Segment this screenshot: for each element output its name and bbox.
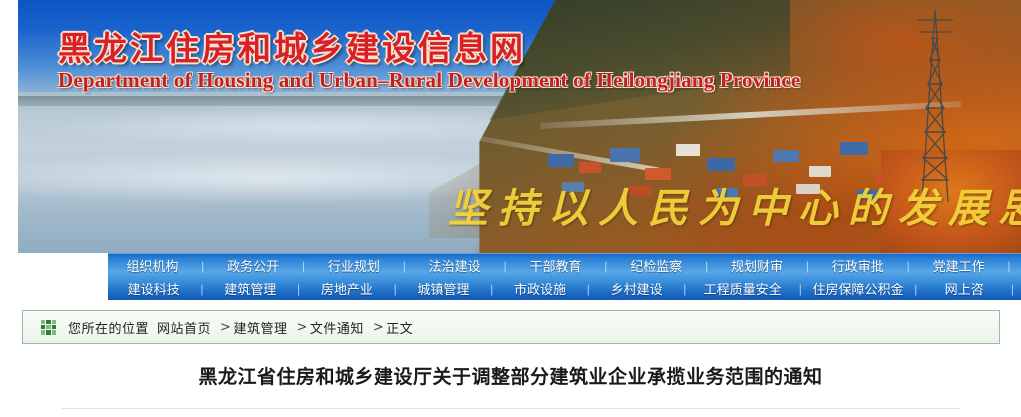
site-banner: 黑龙江住房和城乡建设信息网 Department of Housing and …	[18, 0, 1021, 253]
nav-separator: |	[580, 282, 597, 296]
nav-separator: |	[792, 282, 809, 296]
nav-item-engineering-quality-safety[interactable]: 工程质量安全	[693, 279, 791, 298]
nav-item-party-building[interactable]: 党建工作	[920, 256, 997, 275]
breadcrumb-item-building-management[interactable]: 建筑管理	[233, 318, 287, 337]
content-divider	[62, 408, 960, 409]
nav-item-organization[interactable]: 组织机构	[114, 256, 191, 275]
breadcrumb-separator: >	[294, 320, 309, 335]
breadcrumb-item-document-notice[interactable]: 文件通知	[310, 318, 364, 337]
nav-separator: |	[896, 259, 920, 273]
nav-item-rule-of-law[interactable]: 法治建设	[416, 256, 493, 275]
nav-separator: |	[695, 259, 719, 273]
nav-item-real-estate[interactable]: 房地产业	[307, 279, 386, 298]
breadcrumb-separator: >	[218, 320, 233, 335]
nav-item-construction-technology[interactable]: 建设科技	[114, 279, 193, 298]
banner-slogan-watermark: 坚持以人民为中心的发展思想	[448, 176, 1021, 234]
breadcrumb-separator: >	[371, 320, 386, 335]
nav-item-administrative-approval[interactable]: 行政审批	[819, 256, 896, 275]
breadcrumb-item-home[interactable]: 网站首页	[157, 318, 211, 337]
nav-item-rural-construction[interactable]: 乡村建设	[597, 279, 676, 298]
nav-item-discipline-inspection[interactable]: 纪检监察	[618, 256, 695, 275]
page-title: 黑龙江省住房和城乡建设厅关于调整部分建筑业企业承揽业务范围的通知	[0, 362, 1021, 389]
nav-item-municipal-facilities[interactable]: 市政设施	[500, 279, 579, 298]
breadcrumb-item-current: 正文	[386, 318, 413, 337]
nav-separator: |	[493, 259, 517, 273]
transmission-tower-icon	[913, 8, 957, 204]
main-navigation: 组织机构 | 政务公开 | 行业规划 | 法治建设 | 干部教育 | 纪检监察 …	[108, 253, 1021, 300]
nav-item-building-management[interactable]: 建筑管理	[211, 279, 290, 298]
nav-separator: |	[290, 282, 307, 296]
page-root: 黑龙江住房和城乡建设信息网 Department of Housing and …	[0, 0, 1021, 417]
nav-separator: |	[291, 259, 315, 273]
nav-separator: |	[193, 282, 210, 296]
nav-item-housing-provident-fund[interactable]: 住房保障公积金	[809, 279, 907, 298]
nav-item-planning-audit[interactable]: 规划财审	[719, 256, 796, 275]
grid-icon	[41, 320, 56, 335]
nav-item-industry-planning[interactable]: 行业规划	[316, 256, 393, 275]
nav-item-online-consultation[interactable]: 网上咨	[924, 279, 1003, 298]
nav-separator: |	[997, 259, 1021, 273]
nav-separator: |	[907, 282, 924, 296]
site-title-cn: 黑龙江住房和城乡建设信息网	[58, 22, 526, 70]
nav-separator: |	[392, 259, 416, 273]
site-title-en: Department of Housing and Urban–Rural De…	[58, 68, 800, 93]
nav-separator: |	[594, 259, 618, 273]
nav-separator: |	[483, 282, 500, 296]
nav-item-cadre-education[interactable]: 干部教育	[517, 256, 594, 275]
nav-item-urban-management[interactable]: 城镇管理	[404, 279, 483, 298]
nav-row-secondary: 建设科技 | 建筑管理 | 房地产业 | 城镇管理 | 市政设施 | 乡村建设 …	[108, 277, 1021, 300]
nav-separator: |	[387, 282, 404, 296]
nav-separator: |	[191, 259, 215, 273]
nav-separator: |	[676, 282, 693, 296]
nav-item-government-affairs[interactable]: 政务公开	[215, 256, 292, 275]
breadcrumb: 您所在的位置 网站首页 > 建筑管理 > 文件通知 > 正文	[22, 310, 1000, 344]
nav-separator: |	[795, 259, 819, 273]
breadcrumb-prefix: 您所在的位置	[68, 318, 149, 337]
nav-row-primary: 组织机构 | 政务公开 | 行业规划 | 法治建设 | 干部教育 | 纪检监察 …	[108, 253, 1021, 277]
nav-separator: |	[1004, 282, 1021, 296]
